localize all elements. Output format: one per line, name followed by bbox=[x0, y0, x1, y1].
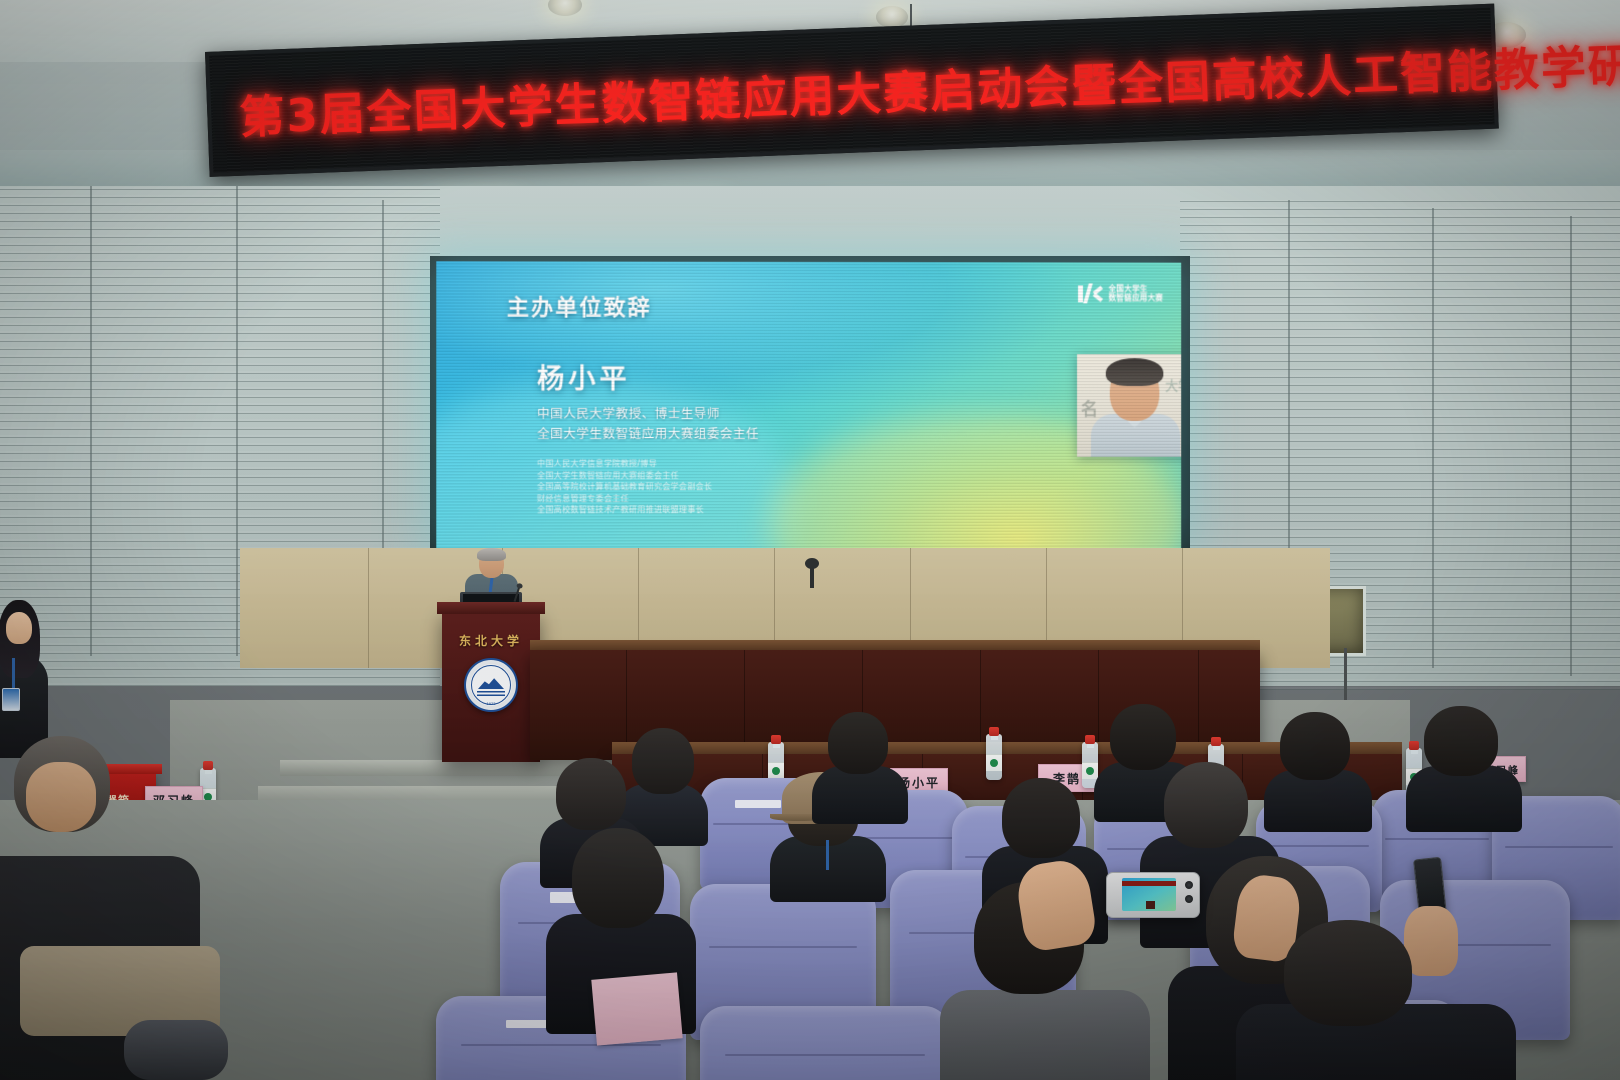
podium: 东北大学 1923 bbox=[442, 610, 540, 762]
staff-lanyard bbox=[12, 658, 15, 690]
competition-logo-line1: 全国大学生 bbox=[1108, 284, 1163, 293]
audience-member-foreground bbox=[1256, 920, 1486, 1080]
wall-panel-seam bbox=[1432, 208, 1434, 668]
slide-role-item: 中国人民大学信息学院教授/博导 bbox=[537, 458, 712, 470]
attendee-lanyard bbox=[826, 840, 829, 870]
portrait-watermark-2: 大学 bbox=[1165, 375, 1181, 394]
competition-logo-mark bbox=[1078, 282, 1104, 304]
water-bottle bbox=[986, 734, 1002, 780]
conference-hall-photo: 第3届全国大学生数智链应用大赛启动会暨全国高校人工智能教学研讨会 主办单位致辞 … bbox=[0, 0, 1620, 1080]
handout-paper bbox=[591, 972, 682, 1045]
slide-title: 主办单位致辞 bbox=[507, 290, 652, 322]
hanging-microphone bbox=[810, 566, 814, 588]
seal-year: 1923 bbox=[466, 701, 516, 706]
wall-panel-seam bbox=[1570, 216, 1572, 676]
slide-roles-list: 中国人民大学信息学院教授/博导 全国大学生数智链应用大赛组委会主任 全国高等院校… bbox=[537, 458, 712, 516]
competition-logo: 全国大学生 数智链应用大赛 bbox=[1078, 282, 1164, 304]
audience-member bbox=[816, 712, 902, 814]
wall-panel-seam bbox=[236, 186, 238, 656]
audience-member-left-legs bbox=[20, 946, 220, 1080]
slide-role-item: 全国大学生数智链应用大赛组委会主任 bbox=[537, 470, 712, 482]
staff-badge bbox=[2, 688, 20, 711]
slide-subtitle-1: 中国人民大学教授、博士生导师 bbox=[537, 403, 720, 422]
slide-role-item: 财经信息管理专委会主任 bbox=[537, 493, 712, 505]
portrait-watermark: 名 bbox=[1081, 395, 1098, 420]
led-banner-text: 第3届全国大学生数智链应用大赛启动会暨全国高校人工智能教学研讨会 bbox=[238, 34, 1484, 146]
staff-member-standing bbox=[0, 596, 50, 756]
auditorium-seat-front bbox=[700, 1006, 950, 1080]
audience-member bbox=[1412, 706, 1514, 826]
smartphone-camera-lens bbox=[1185, 881, 1193, 889]
speaker-portrait-photo: 名 大学 bbox=[1077, 354, 1181, 457]
competition-logo-line2: 数智链应用大赛 bbox=[1108, 293, 1163, 302]
presentation-screen: 主办单位致辞 全国大学生 数智链应用大赛 杨小平 中国人民大学教授、博士生导师 … bbox=[436, 261, 1181, 550]
university-seal: 1923 bbox=[464, 658, 518, 712]
podium-university-label: 东北大学 bbox=[442, 632, 540, 649]
slide-role-item: 全国高等院校计算机基础教育研究会学会副会长 bbox=[537, 481, 712, 493]
slide-subtitle-2: 全国大学生数智链应用大赛组委会主任 bbox=[537, 423, 759, 442]
smartphone-screen bbox=[1122, 878, 1176, 911]
ceiling-downlight bbox=[876, 6, 908, 28]
slide-role-item: 全国高校数智链技术产教研用推进联盟理事长 bbox=[537, 504, 712, 516]
smartphone-camera-lens bbox=[1185, 895, 1193, 903]
wall-panel-seam bbox=[90, 186, 92, 656]
staff-face bbox=[6, 612, 32, 644]
smartphone-recording[interactable] bbox=[1106, 872, 1200, 918]
slide-speaker-name: 杨小平 bbox=[537, 357, 631, 396]
audience-member bbox=[1268, 712, 1366, 824]
